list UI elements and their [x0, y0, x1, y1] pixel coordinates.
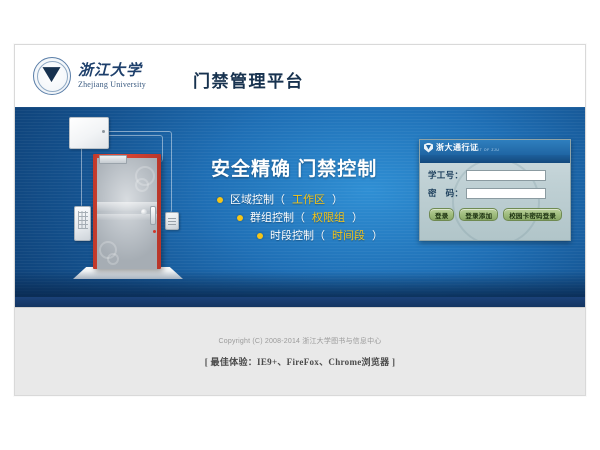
- field-row-username: 学工号：: [428, 169, 570, 181]
- zju-seal-icon: [33, 57, 71, 95]
- university-logo[interactable]: 浙江大学 Zhejiang University: [33, 57, 146, 95]
- bullet-icon: [257, 233, 263, 239]
- feature-highlight: 权限组: [312, 209, 345, 227]
- access-controller-icon: [69, 117, 109, 149]
- logo-text: 浙江大学 Zhejiang University: [78, 63, 146, 89]
- card-reader-icon: [165, 212, 179, 230]
- username-input[interactable]: [466, 170, 546, 181]
- hero-banner: 安全精确 门禁控制 区域控制（工作区） 群组控制（权限组） 时段控制（时间段）: [15, 107, 585, 297]
- hero-headline: 安全精确 门禁控制: [211, 154, 377, 181]
- bullet-icon: [237, 215, 243, 221]
- feature-item-group-control: 群组控制（权限组）: [237, 209, 383, 227]
- feature-tail: ）: [332, 191, 343, 209]
- logo-chinese-name: 浙江大学: [78, 63, 146, 78]
- door-icon: [93, 154, 161, 269]
- feature-item-area-control: 区域控制（工作区）: [217, 191, 383, 209]
- browser-recommendation-text: [ 最佳体验：IE9+、FireFox、Chrome浏览器 ]: [15, 355, 585, 368]
- campus-card-login-button[interactable]: 校园卡密码登录: [503, 208, 562, 221]
- password-label: 密 码：: [428, 187, 466, 199]
- copyright-text: Copyright (C) 2008-2014 浙江大学图书与信息中心: [15, 336, 585, 346]
- feature-item-time-control: 时段控制（时间段）: [257, 227, 383, 245]
- feature-highlight: 工作区: [292, 191, 325, 209]
- username-label: 学工号：: [428, 169, 466, 181]
- login-panel-header: 浙大通行证 PASSPORT OF ZJU: [420, 140, 570, 155]
- feature-label: 时段控制（: [270, 227, 325, 245]
- login-form: 学工号： 密 码： 登录 登录添加 校园卡密码登录: [420, 163, 570, 221]
- login-add-button[interactable]: 登录添加: [459, 208, 498, 221]
- feature-label: 群组控制（: [250, 209, 305, 227]
- field-row-password: 密 码：: [428, 187, 570, 199]
- page-frame: 浙江大学 Zhejiang University 门禁管理平台: [14, 44, 586, 396]
- passport-ribbon: PASSPORT OF ZJU PASSPORT OF ZJU PASSPORT…: [420, 155, 570, 163]
- feature-list: 区域控制（工作区） 群组控制（权限组） 时段控制（时间段）: [213, 191, 383, 245]
- feature-highlight: 时间段: [332, 227, 365, 245]
- login-panel-subtitle: PASSPORT OF ZJU: [460, 149, 500, 152]
- login-panel: 浙大通行证 PASSPORT OF ZJU PASSPORT OF ZJU PA…: [419, 139, 571, 241]
- bullet-icon: [217, 197, 223, 203]
- page-root: 浙江大学 Zhejiang University 门禁管理平台: [0, 0, 600, 450]
- door-access-illustration: [51, 109, 201, 295]
- password-input[interactable]: [466, 188, 546, 199]
- navy-divider: [15, 297, 585, 307]
- feature-tail: ）: [352, 209, 363, 227]
- page-title: 门禁管理平台: [193, 67, 304, 92]
- login-button[interactable]: 登录: [429, 208, 454, 221]
- site-footer: Copyright (C) 2008-2014 浙江大学图书与信息中心 [ 最佳…: [15, 307, 585, 395]
- banner-bottom-fade: [15, 271, 585, 297]
- feature-label: 区域控制（: [230, 191, 285, 209]
- login-button-row: 登录 登录添加 校园卡密码登录: [429, 208, 570, 221]
- logo-english-name: Zhejiang University: [78, 81, 146, 89]
- cable-to-keypad-icon: [81, 147, 83, 206]
- shield-icon: [424, 143, 433, 153]
- keypad-reader-icon: [74, 206, 91, 241]
- site-header: 浙江大学 Zhejiang University 门禁管理平台: [15, 45, 585, 107]
- feature-tail: ）: [372, 227, 383, 245]
